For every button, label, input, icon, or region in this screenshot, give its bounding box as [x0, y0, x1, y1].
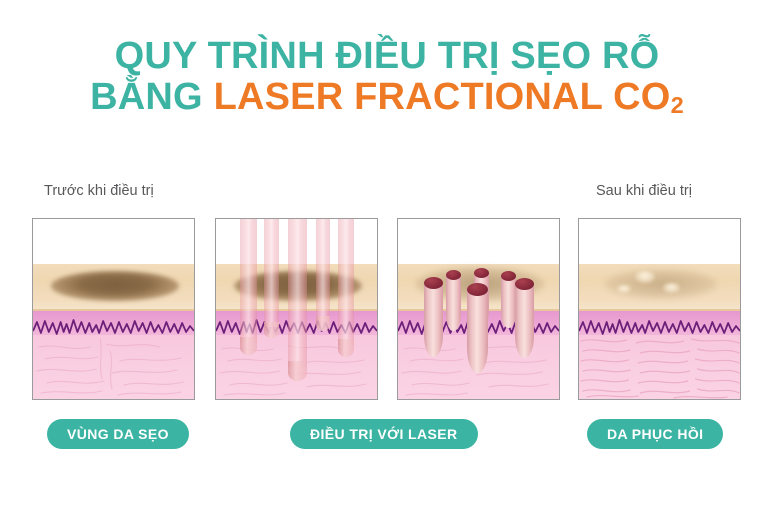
caption-after-treatment: Sau khi điều trị: [596, 183, 692, 199]
title-line-2-prefix: BẰNG: [90, 76, 213, 118]
collagen-fibers-regenerated: [579, 335, 740, 400]
laser-beam-tip: [240, 337, 257, 355]
healed-skin-highlight: [663, 283, 680, 293]
caption-before-treatment: Trước khi điều trị: [44, 183, 154, 199]
title-line-2: BẰNG LASER FRACTIONAL CO2: [0, 77, 774, 119]
ablation-zone-cap: [446, 270, 461, 280]
badge-laser-treatment[interactable]: ĐIỀU TRỊ VỚI LASER: [290, 419, 478, 449]
ablation-zone-cap: [515, 278, 534, 290]
panel-healed-skin: [578, 218, 741, 400]
laser-beam-tip: [288, 361, 307, 381]
micro-thermal-column: [467, 289, 488, 373]
laser-beam-tip: [338, 339, 354, 357]
ablation-zone-cap: [474, 268, 489, 278]
laser-beam: [240, 219, 257, 343]
scar-depression: [51, 271, 179, 301]
layer-air: [33, 219, 194, 264]
title-line-1: QUY TRÌNH ĐIỀU TRỊ SẸO RỖ: [0, 36, 774, 77]
badge-recovered-skin[interactable]: DA PHỤC HỒI: [587, 419, 723, 449]
page-title: QUY TRÌNH ĐIỀU TRỊ SẸO RỖ BẰNG LASER FRA…: [0, 36, 774, 119]
laser-beam: [338, 219, 354, 345]
panel-micro-columns: [397, 218, 560, 400]
laser-beam: [288, 219, 307, 367]
micro-thermal-column: [446, 275, 461, 331]
layer-air: [398, 219, 559, 264]
title-subscript: 2: [671, 92, 684, 118]
laser-beam-tip: [316, 316, 330, 331]
healed-skin-highlight: [635, 271, 655, 283]
micro-thermal-column: [501, 276, 516, 328]
laser-beam: [316, 219, 330, 321]
title-line-2-highlight: LASER FRACTIONAL CO: [214, 76, 671, 118]
ablation-zone-cap: [424, 277, 443, 289]
panel-scarred-skin: [32, 218, 195, 400]
micro-thermal-column: [424, 283, 443, 357]
ablation-zone-cap: [467, 283, 488, 296]
collagen-fibers: [33, 335, 194, 400]
layer-air: [579, 219, 740, 264]
skin-illustration-row: [32, 218, 746, 400]
laser-beam: [264, 219, 279, 327]
residual-scar: [605, 269, 717, 299]
micro-thermal-column: [515, 284, 534, 358]
laser-beam-tip: [264, 322, 279, 338]
ablation-zone-cap: [501, 271, 516, 281]
healed-skin-highlight: [617, 285, 631, 293]
panel-laser-beams: [215, 218, 378, 400]
badge-scarred-area[interactable]: VÙNG DA SẸO: [47, 419, 189, 449]
